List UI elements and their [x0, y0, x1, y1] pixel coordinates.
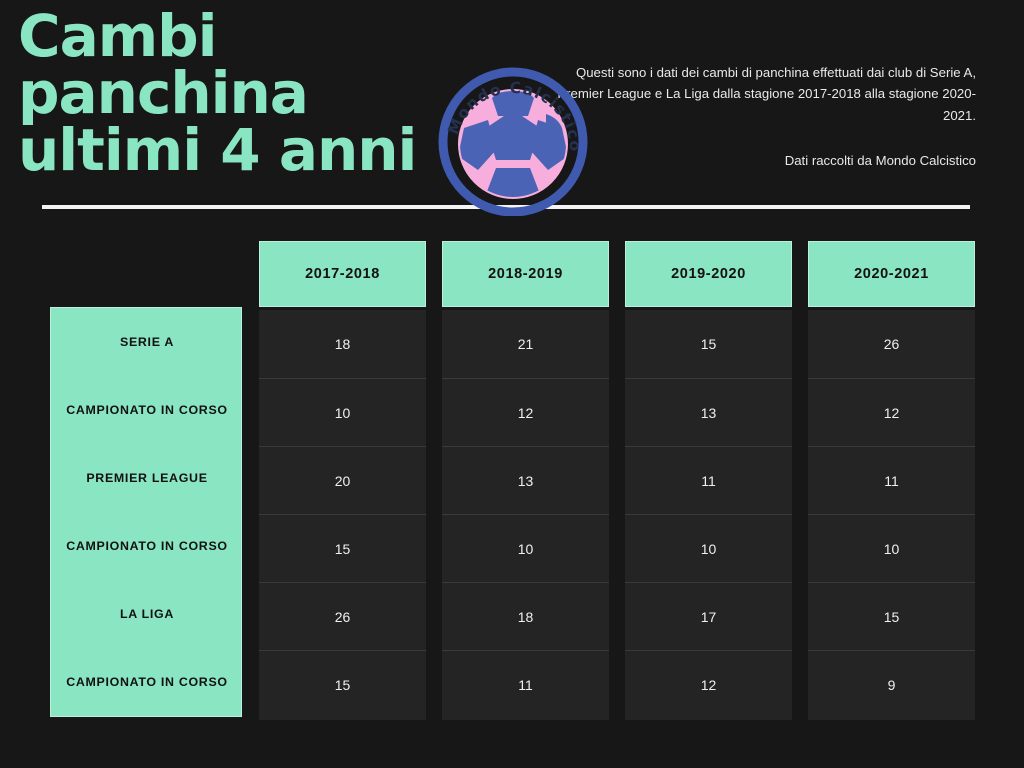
cell-campionato-2-2020-2021: 10: [808, 514, 975, 582]
cell-premier-league-2020-2021: 11: [808, 446, 975, 514]
season-column-2017-2018: 2017-2018 18 10 20 15 26 15: [259, 241, 426, 720]
season-column-2020-2021: 2020-2021 26 12 11 10 15 9: [808, 241, 975, 720]
column-header-2018-2019: 2018-2019: [442, 241, 609, 307]
cell-premier-league-2017-2018: 20: [259, 446, 426, 514]
cell-la-liga-2019-2020: 17: [625, 582, 792, 650]
cell-premier-league-2019-2020: 11: [625, 446, 792, 514]
column-header-2020-2021: 2020-2021: [808, 241, 975, 307]
row-label-column: SERIE A CAMPIONATO IN CORSO PREMIER LEAG…: [50, 307, 242, 717]
row-label-campionato-corso-1: CAMPIONATO IN CORSO: [51, 376, 243, 444]
cell-serie-a-2019-2020: 15: [625, 310, 792, 378]
cell-serie-a-2018-2019: 21: [442, 310, 609, 378]
cell-campionato-3-2019-2020: 12: [625, 650, 792, 718]
cell-la-liga-2018-2019: 18: [442, 582, 609, 650]
row-label-la-liga: LA LIGA: [51, 580, 243, 648]
column-body-2020-2021: 26 12 11 10 15 9: [808, 310, 975, 720]
cell-campionato-2-2018-2019: 10: [442, 514, 609, 582]
cell-serie-a-2020-2021: 26: [808, 310, 975, 378]
season-column-2019-2020: 2019-2020 15 13 11 10 17 12: [625, 241, 792, 720]
cell-campionato-1-2017-2018: 10: [259, 378, 426, 446]
cell-campionato-1-2020-2021: 12: [808, 378, 975, 446]
cell-campionato-2-2017-2018: 15: [259, 514, 426, 582]
cell-la-liga-2017-2018: 26: [259, 582, 426, 650]
row-label-premier-league: PREMIER LEAGUE: [51, 444, 243, 512]
cell-campionato-3-2018-2019: 11: [442, 650, 609, 718]
row-label-serie-a: SERIE A: [51, 308, 243, 376]
cell-campionato-3-2020-2021: 9: [808, 650, 975, 718]
cell-campionato-3-2017-2018: 15: [259, 650, 426, 718]
cell-campionato-1-2019-2020: 13: [625, 378, 792, 446]
cell-la-liga-2020-2021: 15: [808, 582, 975, 650]
cell-campionato-1-2018-2019: 12: [442, 378, 609, 446]
cell-campionato-2-2019-2020: 10: [625, 514, 792, 582]
column-header-2017-2018: 2017-2018: [259, 241, 426, 307]
season-column-2018-2019: 2018-2019 21 12 13 10 18 11: [442, 241, 609, 720]
row-label-campionato-corso-3: CAMPIONATO IN CORSO: [51, 648, 243, 716]
column-body-2019-2020: 15 13 11 10 17 12: [625, 310, 792, 720]
data-table: SERIE A CAMPIONATO IN CORSO PREMIER LEAG…: [0, 0, 1024, 768]
cell-serie-a-2017-2018: 18: [259, 310, 426, 378]
cell-premier-league-2018-2019: 13: [442, 446, 609, 514]
column-body-2017-2018: 18 10 20 15 26 15: [259, 310, 426, 720]
column-header-2019-2020: 2019-2020: [625, 241, 792, 307]
row-label-campionato-corso-2: CAMPIONATO IN CORSO: [51, 512, 243, 580]
column-body-2018-2019: 21 12 13 10 18 11: [442, 310, 609, 720]
